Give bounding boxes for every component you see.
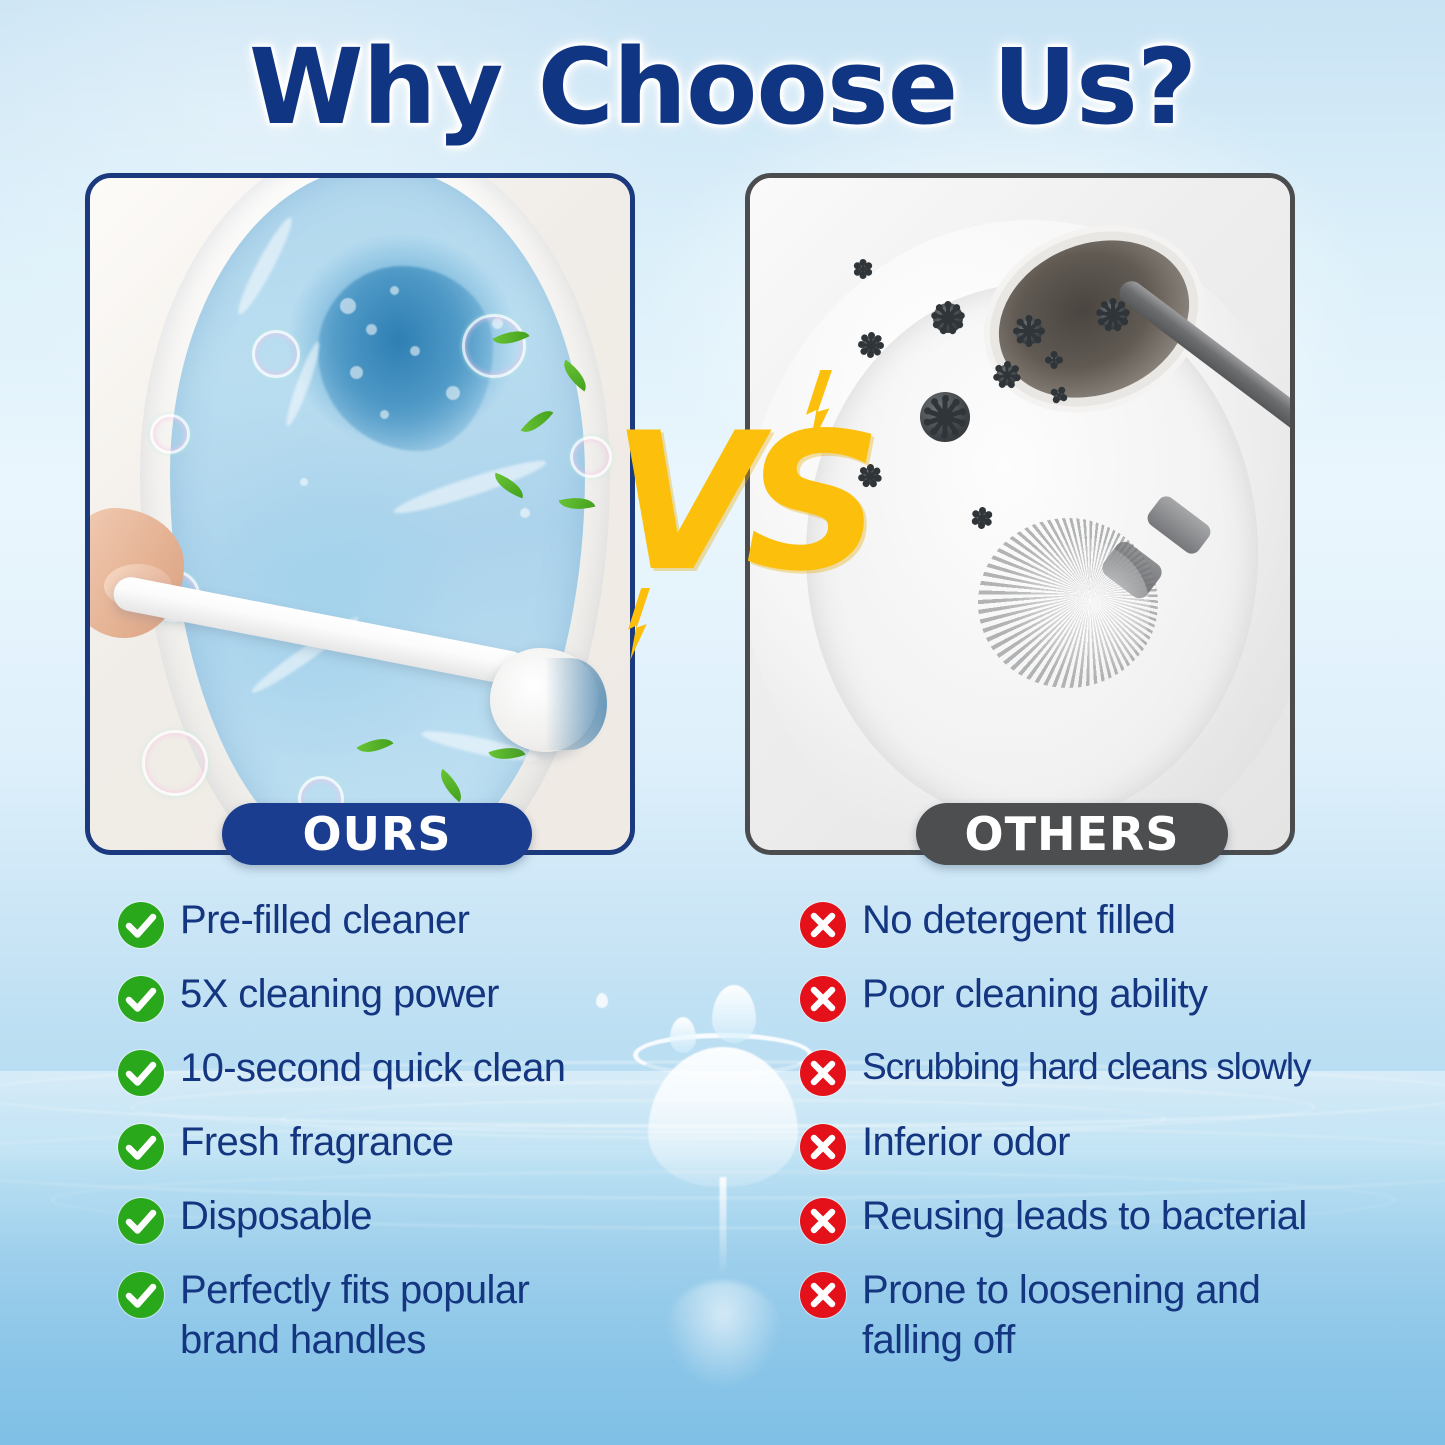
- feature-label: Perfectly fits popular: [180, 1270, 529, 1312]
- others-badge-label: OTHERS: [965, 807, 1180, 861]
- germ-icon: [1050, 386, 1068, 404]
- feature-row: 10-second quick clean: [118, 1048, 718, 1096]
- others-feature-list: No detergent filled Poor cleaning abilit…: [800, 900, 1390, 1361]
- feature-row: Perfectly fits popular brand handles: [118, 1270, 718, 1361]
- check-circle-icon: [118, 1124, 164, 1170]
- cross-circle-icon: [800, 1124, 846, 1170]
- check-circle-icon: [118, 1050, 164, 1096]
- cross-circle-icon: [800, 902, 846, 948]
- feature-label-continued: brand handles: [180, 1320, 529, 1362]
- feature-label: Disposable: [180, 1196, 372, 1238]
- feature-label: No detergent filled: [862, 900, 1175, 942]
- vs-label: VS: [612, 378, 842, 638]
- check-circle-icon: [118, 1198, 164, 1244]
- cross-circle-icon: [800, 1050, 846, 1096]
- feature-label: 5X cleaning power: [180, 974, 499, 1016]
- feature-row: Poor cleaning ability: [800, 974, 1390, 1022]
- feature-row: Reusing leads to bacterial: [800, 1196, 1390, 1244]
- germ-icon: [852, 258, 874, 280]
- cross-circle-icon: [800, 1272, 846, 1318]
- feature-label: 10-second quick clean: [180, 1048, 565, 1090]
- feature-label: Fresh fragrance: [180, 1122, 453, 1164]
- feature-row: Inferior odor: [800, 1122, 1390, 1170]
- ours-badge: OURS: [222, 803, 532, 865]
- feature-row: Disposable: [118, 1196, 718, 1244]
- check-circle-icon: [118, 1272, 164, 1318]
- feature-row: Pre-filled cleaner: [118, 900, 718, 948]
- feature-label: Scrubbing hard cleans slowly: [862, 1048, 1310, 1086]
- germ-icon: [1004, 306, 1054, 356]
- feature-label: Inferior odor: [862, 1122, 1070, 1164]
- germ-icon: [854, 328, 888, 362]
- ours-feature-list: Pre-filled cleaner 5X cleaning power 10-…: [118, 900, 718, 1361]
- feature-row: 5X cleaning power: [118, 974, 718, 1022]
- feature-label: Prone to loosening and: [862, 1270, 1260, 1312]
- germ-icon: [1044, 350, 1064, 370]
- feature-row: Prone to loosening and falling off: [800, 1270, 1390, 1361]
- cross-circle-icon: [800, 1198, 846, 1244]
- feature-label-continued: falling off: [862, 1320, 1260, 1362]
- page-title: Why Choose Us?: [0, 26, 1445, 148]
- check-circle-icon: [118, 902, 164, 948]
- check-circle-icon: [118, 976, 164, 1022]
- germ-icon: [920, 290, 976, 346]
- germ-icon: [902, 374, 988, 460]
- germ-icon: [1086, 288, 1140, 342]
- feature-row: Fresh fragrance: [118, 1122, 718, 1170]
- cross-circle-icon: [800, 976, 846, 1022]
- germ-icon: [968, 504, 996, 532]
- others-badge: OTHERS: [916, 803, 1228, 865]
- feature-row: Scrubbing hard cleans slowly: [800, 1048, 1390, 1096]
- ours-image-panel: [85, 173, 635, 855]
- feature-label: Poor cleaning ability: [862, 974, 1207, 1016]
- infographic-canvas: Why Choose Us?: [0, 0, 1445, 1445]
- feature-label: Reusing leads to bacterial: [862, 1196, 1307, 1238]
- feature-label: Pre-filled cleaner: [180, 900, 469, 942]
- ours-badge-label: OURS: [302, 807, 451, 861]
- germ-icon: [988, 356, 1026, 394]
- feature-row: No detergent filled: [800, 900, 1390, 948]
